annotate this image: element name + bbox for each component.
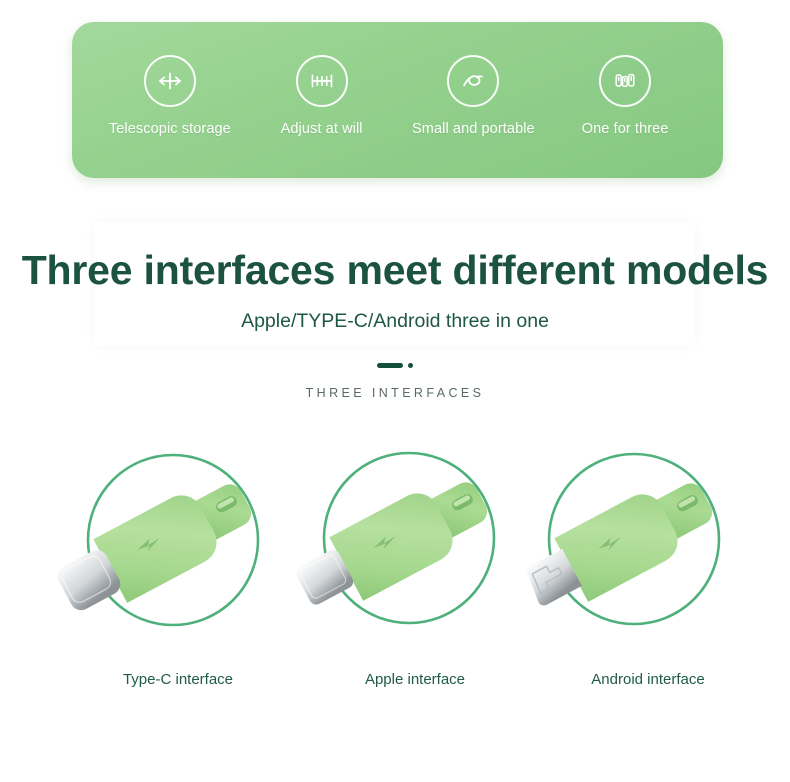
feature-banner: Telescopic storage Adjust at will [72,22,723,178]
divider-caption: THREE INTERFACES [306,386,485,400]
android-connector-image [508,432,764,672]
divider-dash-icon [377,363,403,368]
ruler-scale-icon [296,55,348,107]
feature-label: Small and portable [412,121,535,137]
feature-item-telescopic-storage[interactable]: Telescopic storage [94,55,246,137]
feature-list: Telescopic storage Adjust at will [72,22,723,178]
coiled-cable-icon [447,55,499,107]
feature-label: Adjust at will [281,121,363,137]
connector-caption: Android interface [520,671,776,688]
connector-card-type-c[interactable]: Type-C interface [45,432,301,722]
feature-label: Telescopic storage [109,121,231,137]
connector-card-apple[interactable]: Apple interface [278,432,534,722]
feature-item-adjust-at-will[interactable]: Adjust at will [246,55,398,137]
connector-caption: Type-C interface [50,671,306,688]
type-c-connector-image [45,432,301,672]
connectors-row: Type-C interface [0,432,790,722]
divider-dot-icon [408,363,413,368]
telescopic-arrows-icon [144,55,196,107]
apple-connector-image [278,432,534,672]
feature-label: One for three [582,121,669,137]
divider-mark [377,363,413,368]
three-plugs-icon [599,55,651,107]
feature-item-one-for-three[interactable]: One for three [549,55,701,137]
feature-item-small-and-portable[interactable]: Small and portable [398,55,550,137]
connector-card-android[interactable]: Android interface [508,432,764,722]
section-divider: THREE INTERFACES [0,363,790,400]
connector-caption: Apple interface [287,671,543,688]
page-title: Three interfaces meet different models [0,248,790,294]
page-subtitle: Apple/TYPE-C/Android three in one [0,310,790,333]
